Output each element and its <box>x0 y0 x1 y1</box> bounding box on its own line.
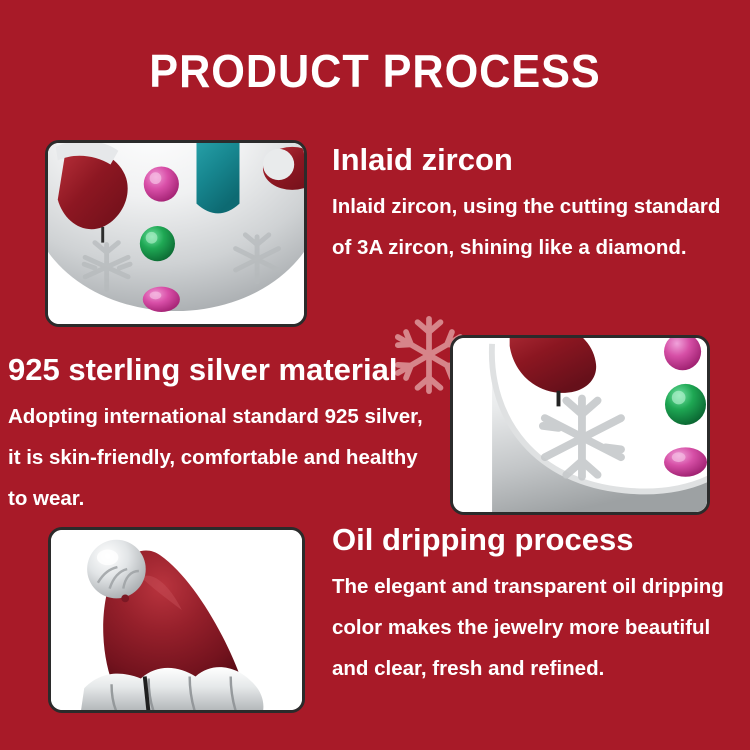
gem-pink-top <box>144 166 179 201</box>
section-body-oil-dripping: The elegant and transparent oil dripping… <box>332 566 732 689</box>
oil-dripping-photo <box>51 530 302 712</box>
section-heading-sterling-silver: 925 sterling silver material <box>8 352 438 388</box>
section-body-sterling-silver: Adopting international standard 925 silv… <box>8 396 438 519</box>
product-process-banner: PRODUCT PROCESS <box>0 0 750 750</box>
pom-pom <box>87 540 146 599</box>
gem-pink-bottom <box>143 287 180 312</box>
sterling-silver-photo <box>453 338 707 514</box>
page-title: PRODUCT PROCESS <box>23 44 728 98</box>
gem-pink-bottom-2 <box>664 447 707 476</box>
section-oil-dripping-text: Oil dripping process The elegant and tra… <box>332 522 732 689</box>
gem-green-2 <box>665 384 706 425</box>
inlaid-zircon-photo <box>48 143 304 326</box>
section-sterling-silver-text: 925 sterling silver material Adopting in… <box>8 352 438 519</box>
section-heading-inlaid-zircon: Inlaid zircon <box>332 142 732 178</box>
section-inlaid-zircon-text: Inlaid zircon Inlaid zircon, using the c… <box>332 142 732 268</box>
product-image-card-inlaid-zircon <box>45 140 307 327</box>
product-image-card-oil-dripping <box>48 527 305 713</box>
section-body-inlaid-zircon: Inlaid zircon, using the cutting standar… <box>332 186 732 268</box>
product-image-card-sterling-silver <box>450 335 710 515</box>
section-heading-oil-dripping: Oil dripping process <box>332 522 732 558</box>
gem-green <box>140 226 175 261</box>
